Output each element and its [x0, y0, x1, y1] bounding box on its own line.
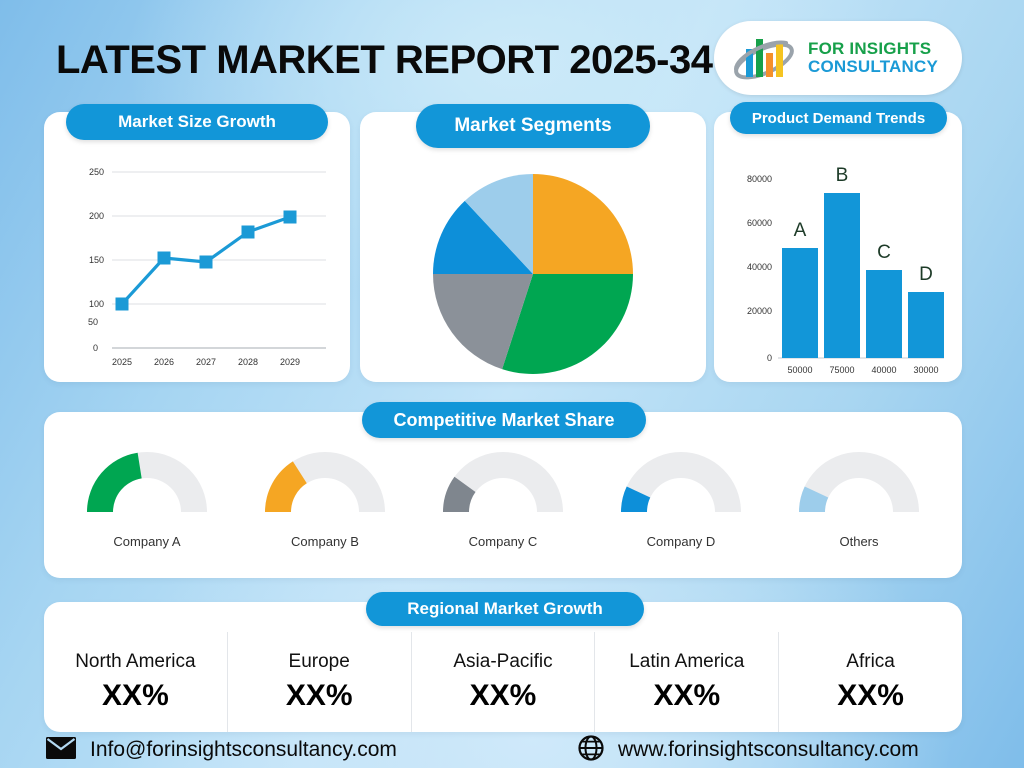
- gauge-value: [87, 453, 142, 512]
- svg-text:2026: 2026: [154, 357, 174, 367]
- gauge-cell: Others: [770, 446, 948, 578]
- pie-chart-title: Market Segments: [454, 115, 611, 137]
- globe-icon: [578, 735, 604, 766]
- svg-text:250: 250: [89, 167, 104, 177]
- footer-website[interactable]: www.forinsightsconsultancy.com: [578, 735, 919, 766]
- bar-c: [866, 270, 902, 358]
- region-cell: Africa XX%: [779, 632, 962, 732]
- svg-text:0: 0: [767, 353, 772, 363]
- bar-chart: 80000 60000 40000 20000 0 A B C D 50000 …: [714, 112, 962, 382]
- line-chart-title: Market Size Growth: [118, 112, 276, 132]
- gauge-label: Company B: [291, 534, 359, 549]
- gauge-1: [251, 446, 399, 520]
- svg-text:20000: 20000: [747, 306, 772, 316]
- svg-text:40000: 40000: [747, 262, 772, 272]
- gauge-label: Company A: [113, 534, 180, 549]
- region-cell: Asia-Pacific XX%: [412, 632, 596, 732]
- region-value: XX%: [102, 679, 169, 713]
- gauge-cell: Company C: [414, 446, 592, 578]
- svg-text:200: 200: [89, 211, 104, 221]
- svg-text:40000: 40000: [871, 365, 896, 375]
- footer: Info@forinsightsconsultancy.com www.fori…: [0, 732, 1024, 768]
- region-section-title: Regional Market Growth: [407, 599, 603, 619]
- page-title: LATEST MARKET REPORT 2025-34: [56, 38, 713, 83]
- region-section-title-pill: Regional Market Growth: [366, 592, 644, 626]
- svg-text:30000: 30000: [913, 365, 938, 375]
- footer-website-text: www.forinsightsconsultancy.com: [618, 738, 919, 762]
- region-cell: Europe XX%: [228, 632, 412, 732]
- svg-text:0: 0: [93, 343, 98, 353]
- logo-line-2: CONSULTANCY: [808, 58, 938, 76]
- company-logo: FOR INSIGHTS CONSULTANCY: [714, 21, 962, 95]
- region-name: North America: [75, 651, 195, 673]
- gauge-2: [429, 446, 577, 520]
- region-value: XX%: [470, 679, 537, 713]
- svg-text:2029: 2029: [280, 357, 300, 367]
- envelope-icon: [46, 737, 76, 764]
- region-value: XX%: [286, 679, 353, 713]
- svg-text:C: C: [877, 242, 891, 263]
- infographic-page: LATEST MARKET REPORT 2025-34 FOR INSIGHT…: [0, 0, 1024, 768]
- gauge-label: Others: [839, 534, 878, 549]
- svg-text:2028: 2028: [238, 357, 258, 367]
- gauge-cell: Company A: [58, 446, 236, 578]
- gauge-3: [607, 446, 755, 520]
- svg-text:B: B: [836, 165, 849, 186]
- svg-text:75000: 75000: [829, 365, 854, 375]
- svg-text:80000: 80000: [747, 174, 772, 184]
- svg-text:2027: 2027: [196, 357, 216, 367]
- region-value: XX%: [837, 679, 904, 713]
- region-cell: North America XX%: [44, 632, 228, 732]
- gauge-section-title: Competitive Market Share: [393, 410, 614, 431]
- gauge-cell: Company D: [592, 446, 770, 578]
- bar-chart-title-pill: Product Demand Trends: [730, 102, 947, 134]
- footer-email-text: Info@forinsightsconsultancy.com: [90, 738, 397, 762]
- gauge-label: Company D: [647, 534, 716, 549]
- logo-wordmark: FOR INSIGHTS CONSULTANCY: [808, 40, 938, 75]
- region-cell: Latin America XX%: [595, 632, 779, 732]
- product-demand-trends-card: 80000 60000 40000 20000 0 A B C D 50000 …: [714, 112, 962, 382]
- gauge-section-title-pill: Competitive Market Share: [362, 402, 646, 438]
- gauge-0: [73, 446, 221, 520]
- region-name: Asia-Pacific: [453, 651, 552, 673]
- svg-text:2025: 2025: [112, 357, 132, 367]
- market-segments-card: [360, 112, 706, 382]
- line-chart-title-pill: Market Size Growth: [66, 104, 328, 140]
- svg-text:100: 100: [89, 299, 104, 309]
- pie-slice-1: [533, 174, 633, 274]
- line-chart: 250 200 150 100 50 0 2025 2026 2027 2028: [44, 112, 350, 382]
- bar-b: [824, 193, 860, 358]
- svg-text:A: A: [794, 220, 807, 241]
- gauge-4: [785, 446, 933, 520]
- svg-text:D: D: [919, 264, 933, 285]
- gauge-cell: Company B: [236, 446, 414, 578]
- market-size-growth-card: 250 200 150 100 50 0 2025 2026 2027 2028: [44, 112, 350, 382]
- pie-chart: [360, 112, 706, 382]
- region-name: Europe: [289, 651, 350, 673]
- bar-a: [782, 248, 818, 358]
- svg-text:150: 150: [89, 255, 104, 265]
- svg-text:50: 50: [88, 317, 98, 327]
- region-value: XX%: [653, 679, 720, 713]
- svg-text:60000: 60000: [747, 218, 772, 228]
- region-name: Latin America: [629, 651, 744, 673]
- bar-chart-title: Product Demand Trends: [752, 110, 925, 127]
- svg-text:50000: 50000: [787, 365, 812, 375]
- pie-chart-title-pill: Market Segments: [416, 104, 650, 148]
- gauge-label: Company C: [469, 534, 538, 549]
- bar-d: [908, 292, 944, 358]
- region-name: Africa: [846, 651, 895, 673]
- logo-line-1: FOR INSIGHTS: [808, 40, 938, 58]
- footer-email[interactable]: Info@forinsightsconsultancy.com: [46, 737, 397, 764]
- bar-chart-orbit-logo-icon: [728, 31, 800, 85]
